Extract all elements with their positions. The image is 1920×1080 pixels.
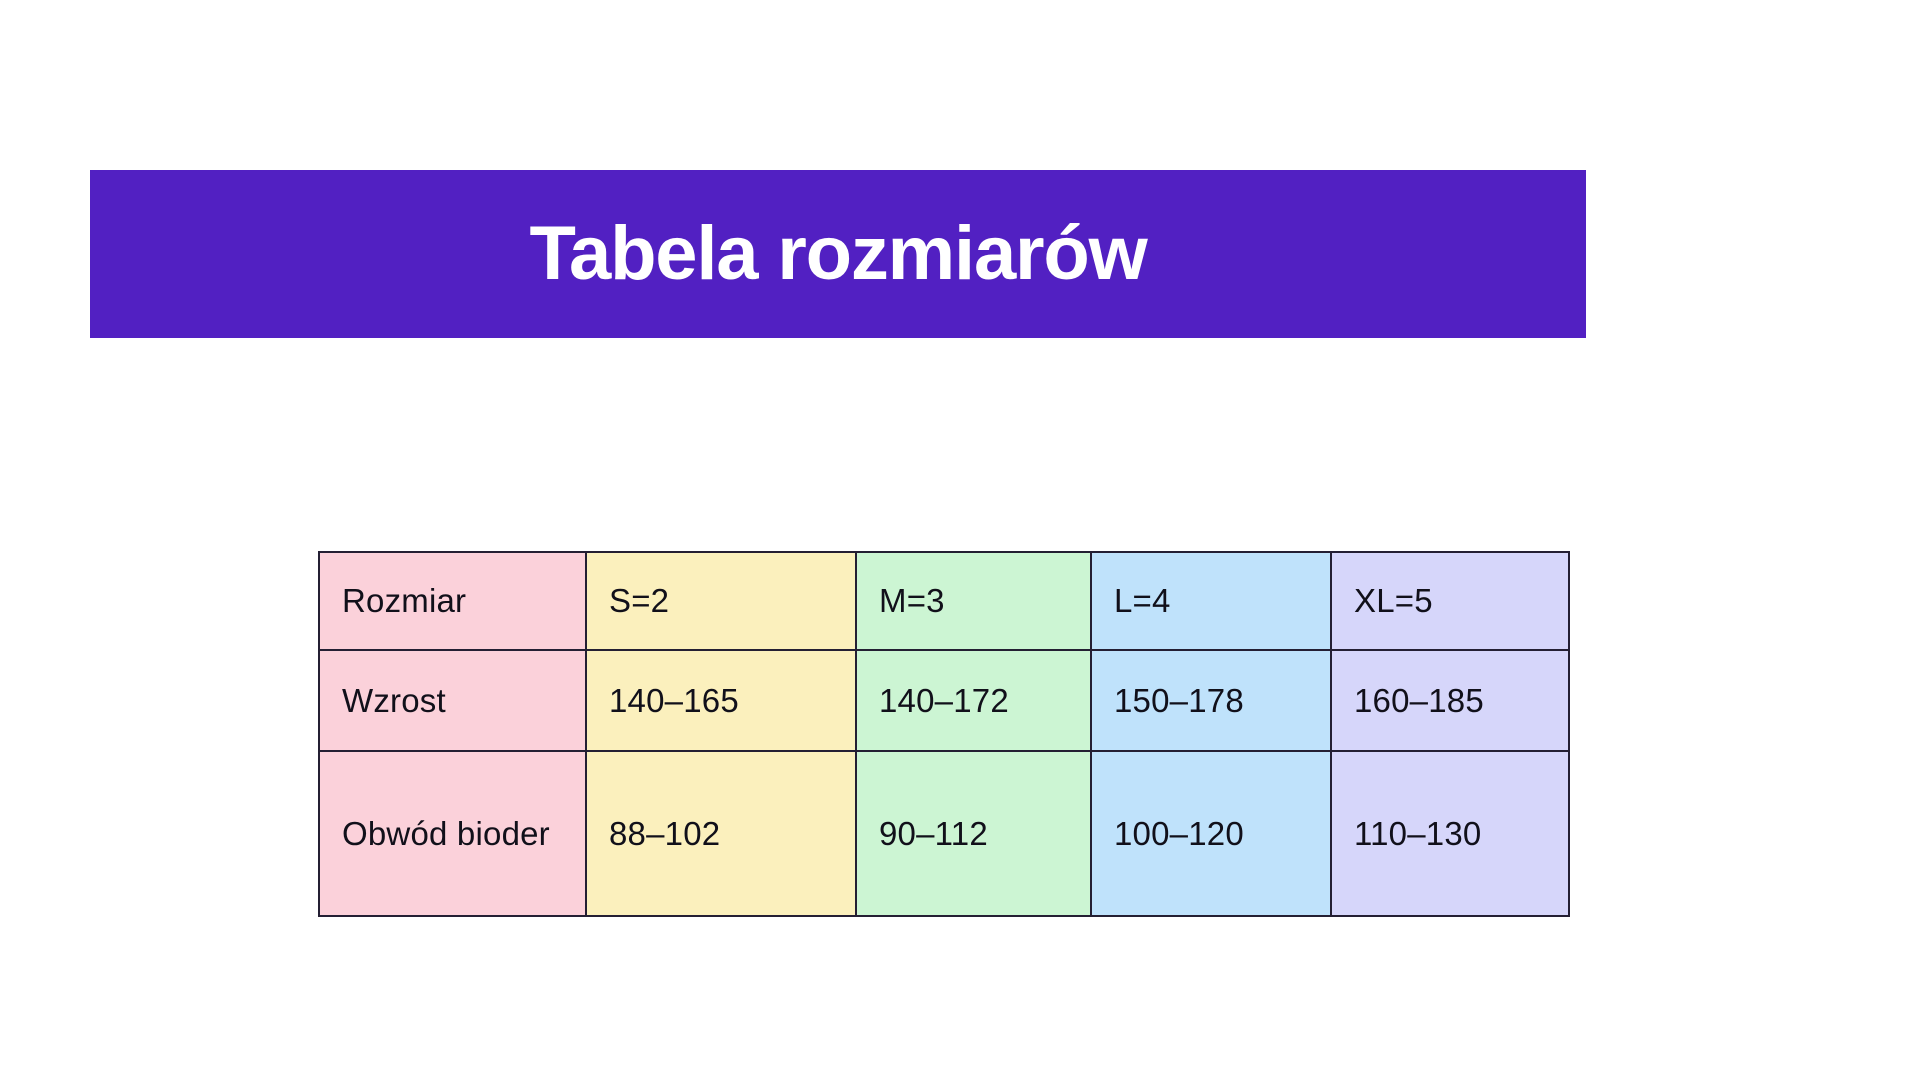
page-title: Tabela rozmiarów — [529, 216, 1146, 292]
cell-wzrost-xl: 160–185 — [1331, 650, 1569, 751]
header-cell-m: M=3 — [856, 552, 1091, 650]
cell-obwod-s: 88–102 — [586, 751, 856, 916]
header-cell-rozmiar: Rozmiar — [319, 552, 586, 650]
cell-obwod-l: 100–120 — [1091, 751, 1331, 916]
slide-canvas: Tabela rozmiarów Rozmiar S=2 M=3 L=4 XL=… — [0, 0, 1920, 1080]
title-banner: Tabela rozmiarów — [90, 170, 1586, 338]
row-label-obwod-bioder: Obwód bioder — [319, 751, 586, 916]
header-cell-l: L=4 — [1091, 552, 1331, 650]
cell-wzrost-m: 140–172 — [856, 650, 1091, 751]
header-cell-s: S=2 — [586, 552, 856, 650]
size-table: Rozmiar S=2 M=3 L=4 XL=5 Wzrost 140–165 … — [318, 551, 1570, 917]
table-row-obwod-bioder: Obwód bioder 88–102 90–112 100–120 110–1… — [319, 751, 1569, 916]
table-row-header: Rozmiar S=2 M=3 L=4 XL=5 — [319, 552, 1569, 650]
row-label-wzrost: Wzrost — [319, 650, 586, 751]
header-cell-xl: XL=5 — [1331, 552, 1569, 650]
cell-obwod-xl: 110–130 — [1331, 751, 1569, 916]
table-row-wzrost: Wzrost 140–165 140–172 150–178 160–185 — [319, 650, 1569, 751]
cell-wzrost-l: 150–178 — [1091, 650, 1331, 751]
cell-wzrost-s: 140–165 — [586, 650, 856, 751]
size-table-container: Rozmiar S=2 M=3 L=4 XL=5 Wzrost 140–165 … — [318, 551, 1568, 917]
cell-obwod-m: 90–112 — [856, 751, 1091, 916]
